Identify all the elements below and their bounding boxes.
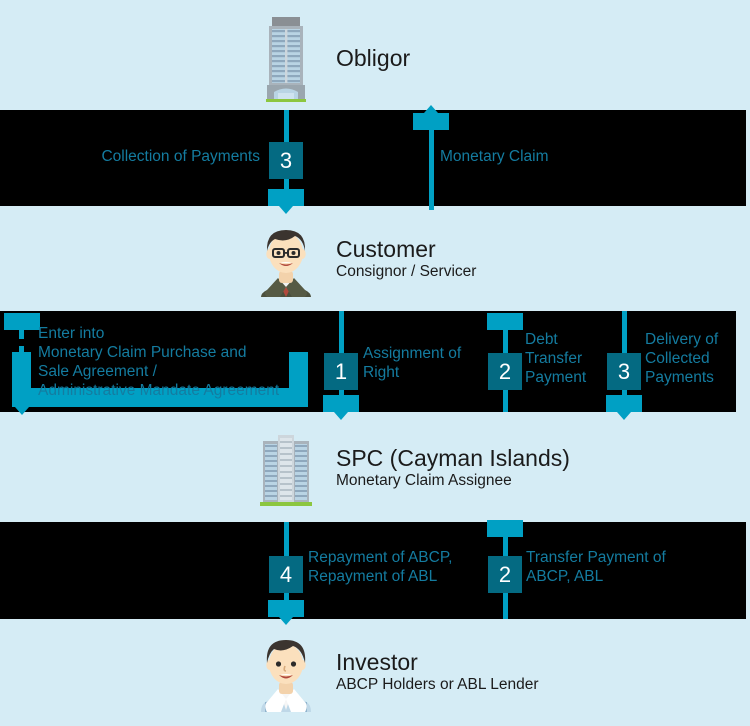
arrow-shaft	[429, 130, 434, 210]
arrow-shaft	[622, 311, 627, 353]
arrow-head-down-icon	[268, 600, 304, 617]
actor-name: Customer	[336, 236, 476, 262]
bracket-arrow-tip-icon	[15, 407, 29, 415]
flow-label-transfer-payment-of-abcp-abl: Transfer Payment of ABCP, ABL	[526, 549, 736, 587]
flow-label-repayment-of-abcp-abl: Repayment of ABCP, Repayment of ABL	[308, 549, 508, 587]
flow-delivery-of-collected-payments: 3	[604, 311, 644, 412]
arrow-head-up-icon	[487, 520, 523, 537]
arrow-shaft	[284, 522, 289, 556]
flow-transfer-payment-of-abcp-abl: 2	[485, 516, 525, 619]
actor-subtitle: Monetary Claim Assignee	[336, 472, 570, 491]
flow-label-enter-into-agreement: Enter into Monetary Claim Purchase and S…	[38, 325, 328, 401]
flow-label-collection-of-payments: Collection of Payments	[40, 148, 260, 167]
actor-subtitle: ABCP Holders or ABL Lender	[336, 676, 538, 695]
flow-number-badge: 3	[269, 142, 303, 179]
actor-customer: Customer Consignor / Servicer	[250, 220, 476, 298]
flow-assignment-of-right: 1	[321, 311, 361, 412]
arrow-shaft	[284, 110, 289, 142]
arrow-shaft	[503, 390, 508, 412]
flow-number-badge: 4	[269, 556, 303, 593]
arrow-head-up-icon	[487, 313, 523, 330]
twin-tower-building-icon	[250, 429, 322, 507]
actor-spc: SPC (Cayman Islands) Monetary Claim Assi…	[250, 428, 570, 508]
arrow-head-up-icon	[413, 113, 449, 130]
actor-obligor: Obligor	[250, 12, 410, 104]
actor-name: Obligor	[336, 45, 410, 71]
actor-investor: Investor ABCP Holders or ABL Lender	[250, 632, 538, 712]
flow-number-badge: 2	[488, 353, 522, 390]
arrow-head-down-icon	[606, 395, 642, 412]
arrow-shaft	[503, 593, 508, 619]
securitization-flow-diagram: Obligor 3 Collection of Payments Monetar…	[0, 0, 750, 726]
arrow-head-down-icon	[323, 395, 359, 412]
flow-number-badge: 1	[324, 353, 358, 390]
businessman-striped-shirt-icon	[250, 632, 322, 712]
arrow-shaft	[339, 311, 344, 353]
flow-repayment-of-abcp-abl: 4	[266, 522, 306, 619]
arrow-head-up-icon	[4, 313, 40, 330]
flow-debt-transfer-payment: 2	[485, 311, 525, 412]
actor-subtitle: Consignor / Servicer	[336, 263, 476, 282]
businessman-with-glasses-icon	[250, 221, 322, 297]
actor-name: Investor	[336, 649, 538, 675]
flow-number-badge: 3	[607, 353, 641, 390]
flow-label-delivery-of-collected-payments: Delivery of Collected Payments	[645, 331, 750, 388]
flow-collection-of-payments: 3	[266, 110, 306, 206]
flow-label-monetary-claim: Monetary Claim	[440, 148, 700, 167]
actor-name: SPC (Cayman Islands)	[336, 445, 570, 471]
flow-number-badge: 2	[488, 556, 522, 593]
flow-label-assignment-of-right: Assignment of Right	[363, 345, 493, 383]
arrow-head-down-icon	[268, 189, 304, 206]
arrow-shaft	[503, 537, 508, 556]
office-building-icon	[250, 13, 322, 103]
